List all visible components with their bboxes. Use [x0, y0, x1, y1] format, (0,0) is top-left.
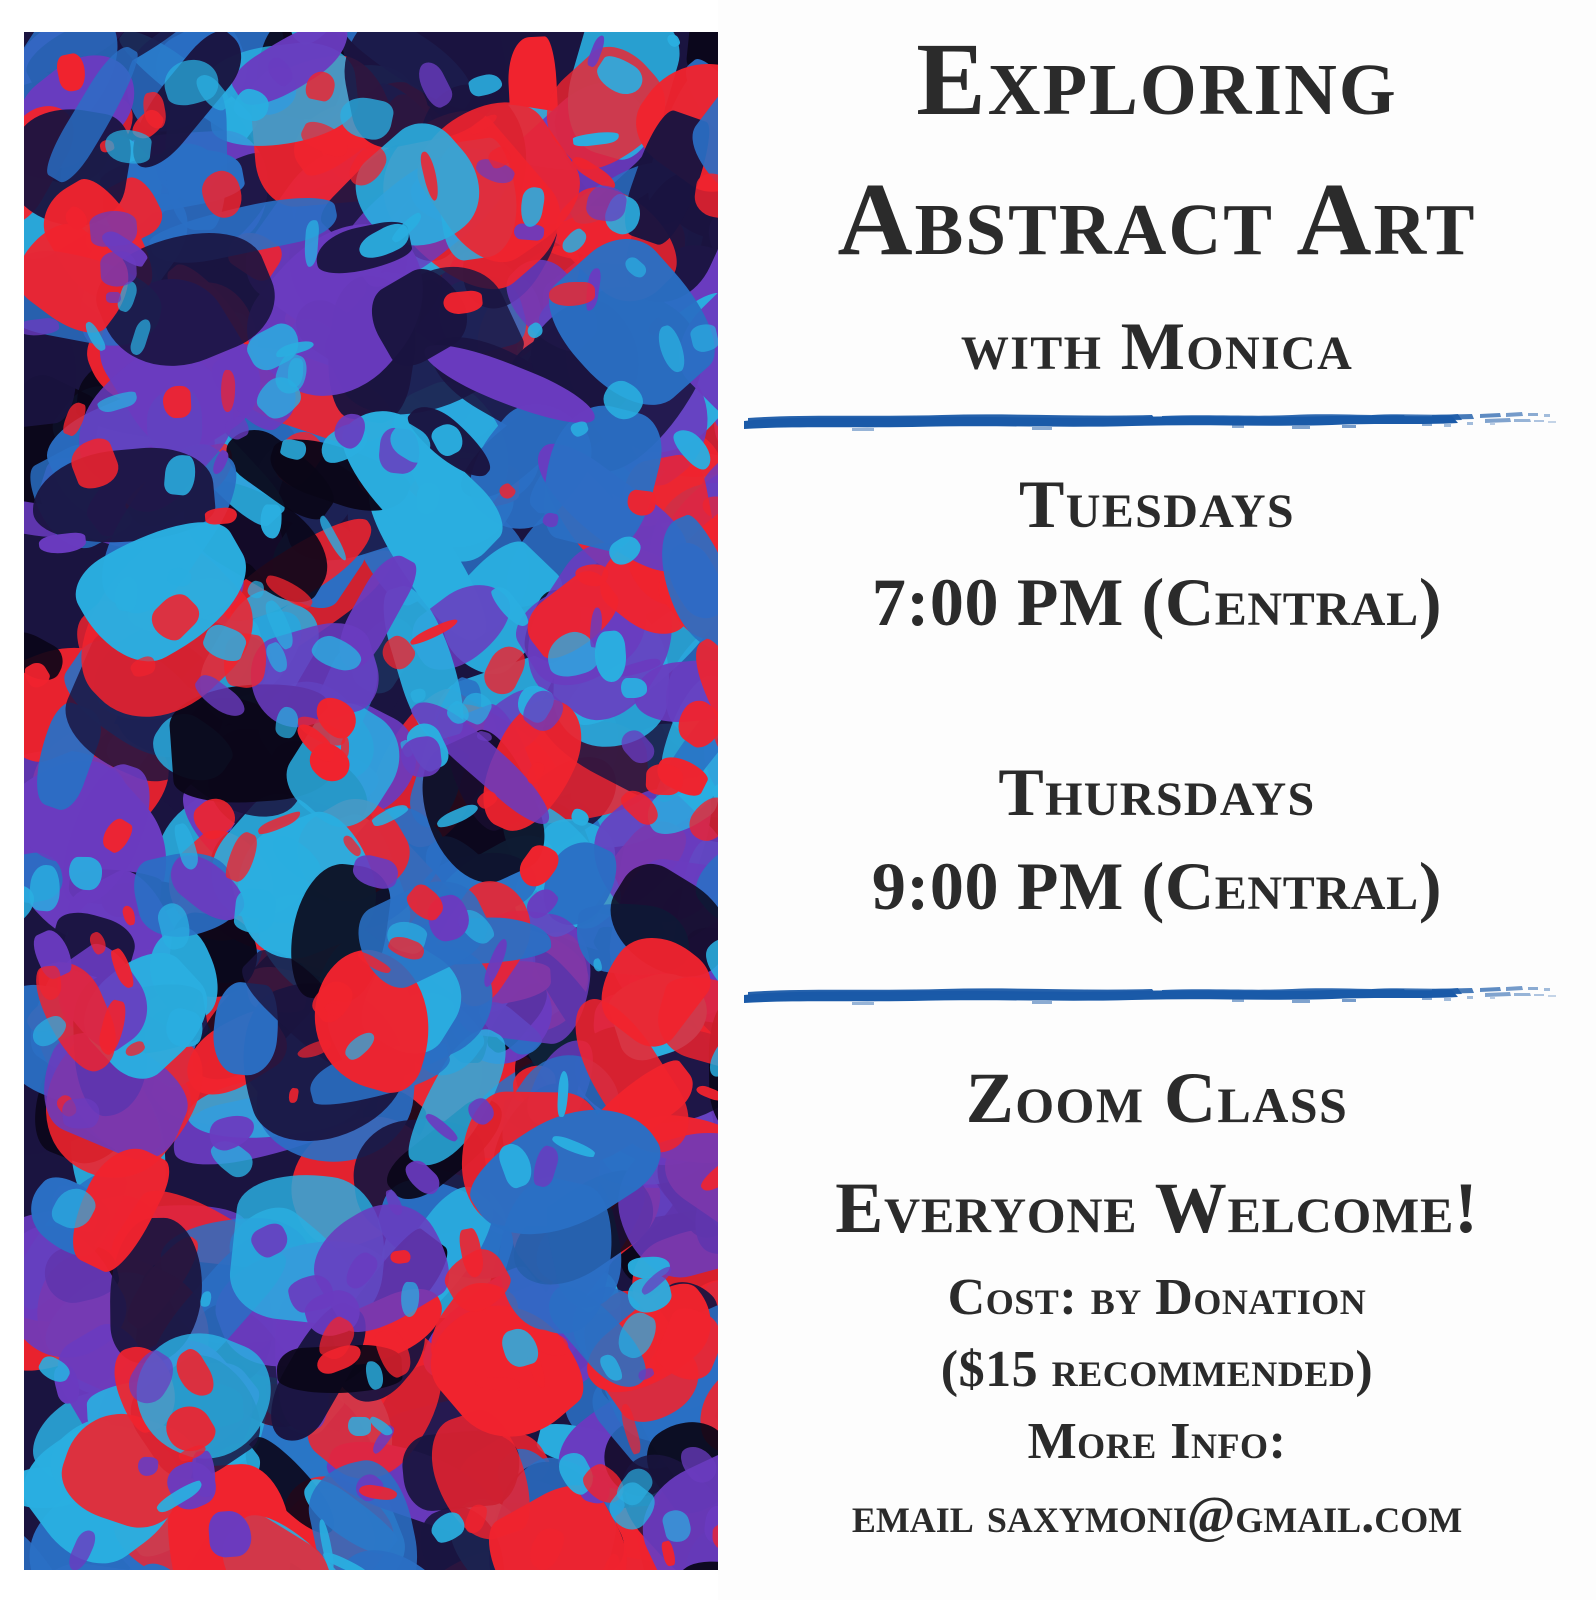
paint-highlight	[348, 1417, 371, 1436]
paint-highlight	[69, 857, 103, 891]
cost-note-line: ($15 recommended)	[718, 1344, 1596, 1396]
schedule-time-1: 7:00 PM (Central)	[718, 568, 1596, 636]
schedule-day-1: Tuesdays	[718, 470, 1596, 538]
contact-email-line: email saxymoni@gmail.com	[718, 1490, 1596, 1542]
schedule-time-2: 9:00 PM (Central)	[718, 852, 1596, 920]
paint-highlight	[621, 678, 647, 698]
brush-divider-bottom	[732, 978, 1558, 1012]
schedule-day-2: Thursdays	[718, 758, 1596, 826]
more-info-label: More Info:	[718, 1416, 1596, 1468]
poster-title-line-2: Abstract Art	[718, 168, 1596, 272]
abstract-painting-image	[24, 32, 718, 1570]
paint-highlight	[162, 385, 191, 418]
welcome-line: Everyone Welcome!	[718, 1172, 1596, 1244]
paint-highlight	[106, 292, 121, 303]
paint-highlight	[61, 1097, 101, 1130]
text-column: Exploring Abstract Art with Monica	[718, 0, 1596, 1600]
cost-line: Cost: by Donation	[718, 1272, 1596, 1324]
brush-divider-top	[732, 404, 1558, 438]
poster-title-line-1: Exploring	[718, 28, 1596, 132]
paint-highlight	[100, 251, 138, 288]
paint-highlight	[260, 504, 282, 538]
class-format-line: Zoom Class	[718, 1062, 1596, 1134]
poster-subtitle-instructor: with Monica	[718, 312, 1596, 380]
artwork-frame	[24, 32, 718, 1570]
brush-stroke-icon	[732, 404, 1558, 438]
brush-stroke-icon	[732, 978, 1558, 1012]
paint-highlight	[549, 282, 595, 306]
poster-root: Exploring Abstract Art with Monica	[0, 0, 1596, 1600]
artwork-column	[0, 0, 718, 1600]
paint-highlight	[645, 763, 683, 795]
